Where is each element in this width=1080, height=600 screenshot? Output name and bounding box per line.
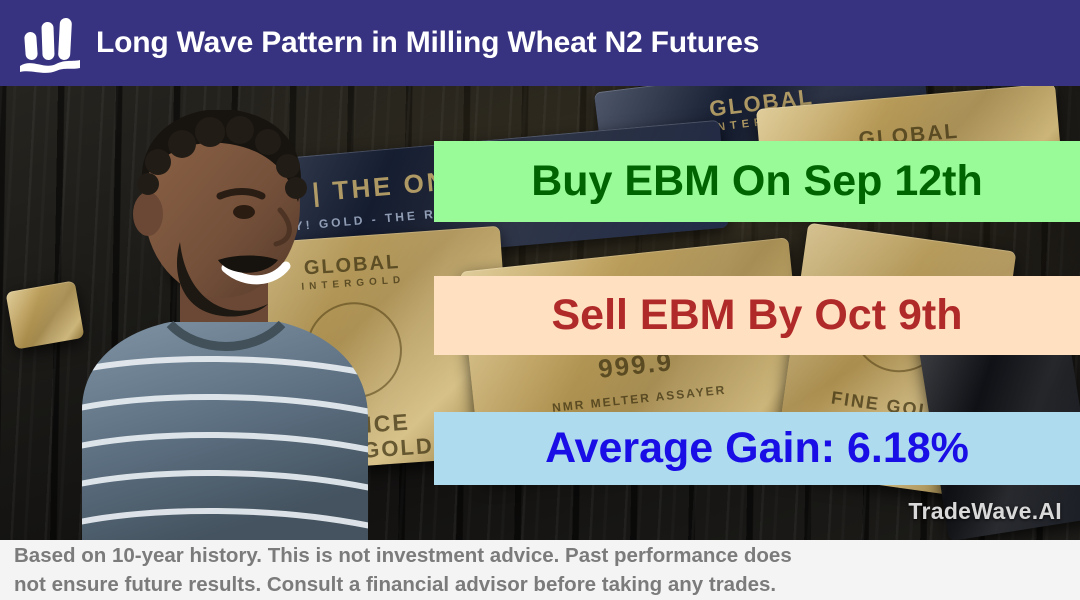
watermark-brand: TradeWave.AI: [908, 498, 1062, 525]
disclaimer-footer: Based on 10-year history. This is not in…: [0, 540, 1080, 600]
disclaimer-line-1: Based on 10-year history. This is not in…: [14, 541, 1068, 570]
disclaimer-line-2: not ensure future results. Consult a fin…: [14, 570, 1068, 599]
bar-chart-wave-logo-icon: [18, 12, 82, 74]
badge-sell[interactable]: Sell EBM By Oct 9th: [434, 276, 1080, 355]
header-bar: Long Wave Pattern in Milling Wheat N2 Fu…: [0, 0, 1080, 86]
infographic-card: Long Wave Pattern in Milling Wheat N2 Fu…: [0, 0, 1080, 600]
hero-photo: GLOBAL INTERGOLD GLOBAL INTERGOLD GLOBAL…: [0, 86, 1080, 540]
person-photo: [30, 110, 420, 540]
badge-buy[interactable]: Buy EBM On Sep 12th: [434, 141, 1080, 222]
page-title: Long Wave Pattern in Milling Wheat N2 Fu…: [96, 26, 759, 60]
badge-average-gain[interactable]: Average Gain: 6.18%: [434, 412, 1080, 485]
